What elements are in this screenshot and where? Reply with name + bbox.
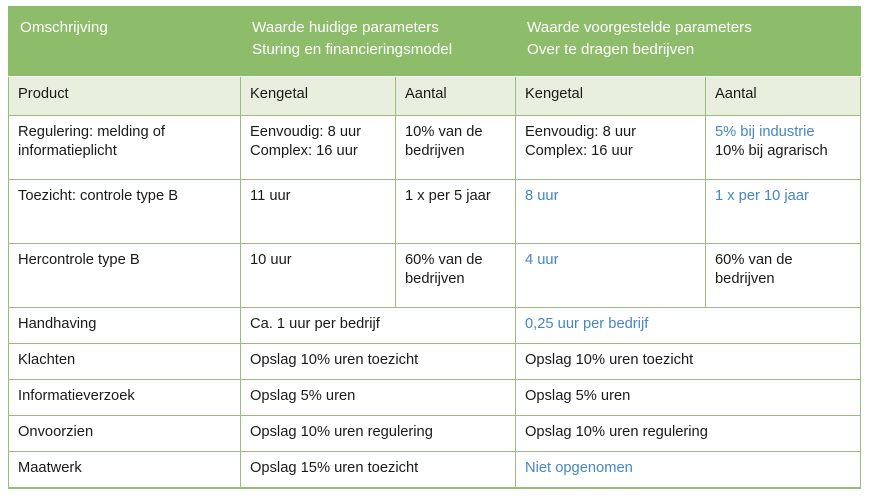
cell-current-merged: Opslag 10% uren toezicht	[241, 344, 516, 380]
table-row: OnvoorzienOpslag 10% uren reguleringOpsl…	[9, 416, 861, 452]
cell-current-aantal-line-2: bedrijven	[405, 142, 506, 161]
group-header-row: Omschrijving Waarde huidige parameters S…	[9, 7, 861, 77]
cell-current-kengetal-line-2: Complex: 16 uur	[250, 142, 386, 161]
cell-current-aantal: 1 x per 5 jaar	[396, 180, 516, 244]
cell-proposed-merged-line-1: Opslag 10% uren regulering	[525, 423, 851, 442]
cell-proposed-aantal-line-1: 1 x per 10 jaar	[715, 187, 851, 206]
parameter-comparison-table: Omschrijving Waarde huidige parameters S…	[8, 6, 861, 489]
cell-product-line-1: Handhaving	[18, 315, 231, 334]
cell-product: Regulering: melding ofinformatieplicht	[9, 116, 241, 180]
cell-proposed-merged-line-1: 0,25 uur per bedrijf	[525, 315, 851, 334]
cell-proposed-aantal-line-2: bedrijven	[715, 270, 851, 289]
cell-proposed-merged: Opslag 5% uren	[516, 380, 861, 416]
cell-proposed-kengetal: 8 uur	[516, 180, 706, 244]
table-row: InformatieverzoekOpslag 5% urenOpslag 5%…	[9, 380, 861, 416]
cell-product-line-1: Informatieverzoek	[18, 387, 231, 406]
column-header-proposed-kengetal: Kengetal	[516, 76, 706, 115]
cell-proposed-kengetal: Eenvoudig: 8 uurComplex: 16 uur	[516, 116, 706, 180]
group-header-voorgestelde-parameters: Waarde voorgestelde parameters Over te d…	[516, 7, 861, 77]
cell-current-kengetal: 10 uur	[241, 244, 396, 308]
cell-current-kengetal: 11 uur	[241, 180, 396, 244]
cell-product: Handhaving	[9, 308, 241, 344]
cell-proposed-merged: 0,25 uur per bedrijf	[516, 308, 861, 344]
cell-proposed-aantal-line-1: 60% van de	[715, 251, 851, 270]
cell-current-merged-line-1: Opslag 5% uren	[250, 387, 506, 406]
cell-current-merged-line-1: Opslag 10% uren regulering	[250, 423, 506, 442]
cell-product: Toezicht: controle type B	[9, 180, 241, 244]
column-header-row: Product Kengetal Aantal Kengetal Aantal	[9, 76, 861, 115]
cell-product-line-1: Maatwerk	[18, 459, 231, 478]
cell-product-line-1: Onvoorzien	[18, 423, 231, 442]
cell-proposed-kengetal: 4 uur	[516, 244, 706, 308]
cell-proposed-kengetal-line-2: Complex: 16 uur	[525, 142, 696, 161]
cell-current-aantal-line-1: 10% van de	[405, 123, 506, 142]
cell-current-kengetal: Eenvoudig: 8 uurComplex: 16 uur	[241, 116, 396, 180]
cell-proposed-merged: Niet opgenomen	[516, 452, 861, 489]
cell-product: Klachten	[9, 344, 241, 380]
group-header-voorgestelde-line-2: Over te dragen bedrijven	[527, 39, 851, 61]
cell-current-merged-line-1: Opslag 10% uren toezicht	[250, 351, 506, 370]
column-header-product: Product	[9, 76, 241, 115]
cell-current-merged: Opslag 10% uren regulering	[241, 416, 516, 452]
cell-current-merged-line-1: Ca. 1 uur per bedrijf	[250, 315, 506, 334]
cell-proposed-kengetal-line-1: 8 uur	[525, 187, 696, 206]
group-header-huidige-line-1: Waarde huidige parameters	[252, 17, 506, 39]
cell-product: Onvoorzien	[9, 416, 241, 452]
table-row: HandhavingCa. 1 uur per bedrijf0,25 uur …	[9, 308, 861, 344]
column-header-proposed-aantal: Aantal	[706, 76, 861, 115]
cell-current-aantal-line-1: 60% van de	[405, 251, 506, 270]
table-row: MaatwerkOpslag 15% uren toezichtNiet opg…	[9, 452, 861, 489]
cell-product-line-1: Regulering: melding of	[18, 123, 231, 142]
group-header-omschrijving-line-1: Omschrijving	[20, 17, 231, 39]
cell-proposed-merged-line-1: Niet opgenomen	[525, 459, 851, 478]
column-header-current-aantal: Aantal	[396, 76, 516, 115]
cell-product-line-1: Hercontrole type B	[18, 251, 231, 270]
cell-product-line-1: Klachten	[18, 351, 231, 370]
cell-proposed-merged-line-1: Opslag 5% uren	[525, 387, 851, 406]
cell-proposed-aantal-line-2: 10% bij agrarisch	[715, 142, 851, 161]
parameter-comparison-table-container: Omschrijving Waarde huidige parameters S…	[0, 0, 870, 497]
cell-product: Hercontrole type B	[9, 244, 241, 308]
cell-current-merged: Opslag 15% uren toezicht	[241, 452, 516, 489]
table-row: KlachtenOpslag 10% uren toezichtOpslag 1…	[9, 344, 861, 380]
cell-current-aantal: 60% van debedrijven	[396, 244, 516, 308]
group-header-huidige-parameters: Waarde huidige parameters Sturing en fin…	[241, 7, 516, 77]
cell-proposed-merged: Opslag 10% uren toezicht	[516, 344, 861, 380]
table-body: Omschrijving Waarde huidige parameters S…	[9, 7, 861, 489]
cell-current-kengetal-line-1: 10 uur	[250, 251, 386, 270]
cell-proposed-merged-line-1: Opslag 10% uren toezicht	[525, 351, 851, 370]
table-row: Regulering: melding ofinformatieplichtEe…	[9, 116, 861, 180]
cell-product-line-2: informatieplicht	[18, 142, 231, 161]
cell-proposed-aantal: 1 x per 10 jaar	[706, 180, 861, 244]
group-header-omschrijving: Omschrijving	[9, 7, 241, 77]
cell-current-merged: Ca. 1 uur per bedrijf	[241, 308, 516, 344]
cell-proposed-aantal: 60% van debedrijven	[706, 244, 861, 308]
table-row: Toezicht: controle type B11 uur1 x per 5…	[9, 180, 861, 244]
table-row: Hercontrole type B10 uur60% van debedrij…	[9, 244, 861, 308]
cell-current-kengetal-line-1: Eenvoudig: 8 uur	[250, 123, 386, 142]
cell-product: Informatieverzoek	[9, 380, 241, 416]
column-header-current-kengetal: Kengetal	[241, 76, 396, 115]
cell-current-merged: Opslag 5% uren	[241, 380, 516, 416]
cell-proposed-aantal: 5% bij industrie10% bij agrarisch	[706, 116, 861, 180]
cell-current-aantal: 10% van debedrijven	[396, 116, 516, 180]
cell-product: Maatwerk	[9, 452, 241, 489]
cell-proposed-kengetal-line-1: Eenvoudig: 8 uur	[525, 123, 696, 142]
cell-current-aantal-line-2: bedrijven	[405, 270, 506, 289]
cell-current-kengetal-line-1: 11 uur	[250, 187, 386, 206]
cell-current-aantal-line-1: 1 x per 5 jaar	[405, 187, 506, 206]
group-header-huidige-line-2: Sturing en financieringsmodel	[252, 39, 506, 61]
cell-proposed-merged: Opslag 10% uren regulering	[516, 416, 861, 452]
group-header-voorgestelde-line-1: Waarde voorgestelde parameters	[527, 17, 851, 39]
cell-proposed-kengetal-line-1: 4 uur	[525, 251, 696, 270]
cell-current-merged-line-1: Opslag 15% uren toezicht	[250, 459, 506, 478]
cell-product-line-1: Toezicht: controle type B	[18, 187, 231, 206]
cell-proposed-aantal-line-1: 5% bij industrie	[715, 123, 851, 142]
